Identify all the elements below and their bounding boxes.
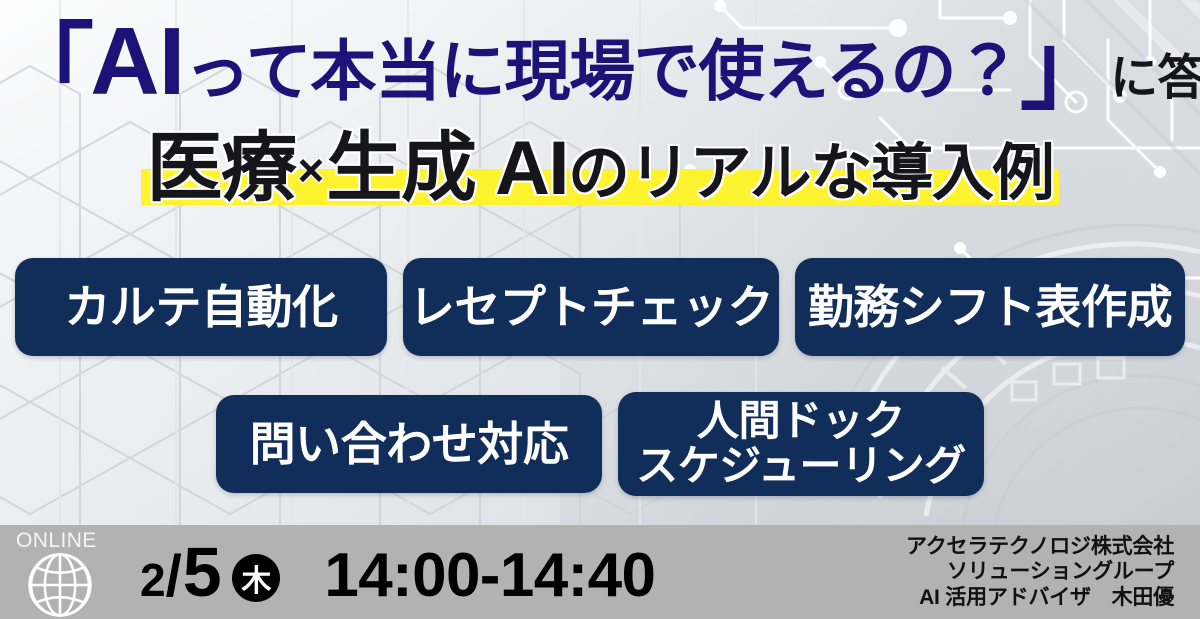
topic-pill[interactable]: レセプトチェック [403, 258, 779, 356]
headline-open-bracket: 「 [0, 15, 90, 120]
headline-line-2: 医療×生成 AIのリアルな導入例 [0, 131, 1200, 207]
headline-close-bracket: 」 [1020, 15, 1110, 120]
headline-real-cases-text: のリアルな導入例 [568, 139, 1053, 208]
topic-pill-label: レセプトチェック [409, 283, 773, 332]
online-badge: ONLINE [0, 525, 118, 619]
credit-presenter: AI 活用アドバイザ 木田優 [655, 585, 1174, 611]
date-day: 5 [183, 532, 221, 612]
topic-pill[interactable]: カルテ自動化 [15, 258, 387, 356]
topic-pill-label: 勤務シフト表作成 [808, 283, 1172, 332]
topic-pill-row-2: 問い合わせ対応 人間ドック スケジューリング [0, 392, 1200, 496]
footer-bar: ONLINE 2 / 5 木 [0, 525, 1200, 619]
day-of-week-badge: 木 [232, 554, 280, 602]
event-time: 14:00-14:40 [324, 540, 655, 611]
topic-pill[interactable]: 問い合わせ対応 [216, 395, 602, 493]
topic-pill[interactable]: 勤務シフト表作成 [795, 258, 1185, 356]
headline-question-text: って本当に現場で使えるの？ [184, 34, 1020, 108]
headline-ai-word: AI [90, 8, 184, 115]
topic-pill-label: カルテ自動化 [64, 283, 337, 332]
topic-pill-row-1: カルテ自動化 レセプトチェック 勤務シフト表作成 [0, 258, 1200, 356]
topic-pill-label: 問い合わせ対応 [250, 420, 569, 469]
headline-medical-word: 医療 [147, 126, 296, 211]
topic-pill[interactable]: 人間ドック スケジューリング [618, 392, 984, 496]
presenter-credits: アクセラテクノロジ株式会社 ソリューショングループ AI 活用アドバイザ 木田優 [655, 534, 1200, 611]
date-separator: / [165, 543, 183, 610]
globe-icon [22, 547, 98, 619]
headline-cross-symbol: × [296, 144, 327, 196]
headline-highlight: 医療×生成 AIのリアルな導入例 [141, 131, 1060, 207]
event-date: 2 / 5 木 [140, 532, 280, 612]
headline-genai-word: 生成 AI [326, 126, 568, 211]
headline-line-1: 「AIって本当に現場で使えるの？」に答えます [0, 14, 1200, 115]
credit-group: ソリューショングループ [655, 559, 1174, 585]
topic-pill-label: 人間ドック スケジューリング [636, 399, 966, 489]
date-month: 2 [140, 553, 165, 607]
seminar-banner: 「AIって本当に現場で使えるの？」に答えます 医療×生成 AIのリアルな導入例 … [0, 0, 1200, 619]
headline-answer-text: に答えます [1110, 52, 1200, 105]
credit-company: アクセラテクノロジ株式会社 [655, 534, 1174, 560]
